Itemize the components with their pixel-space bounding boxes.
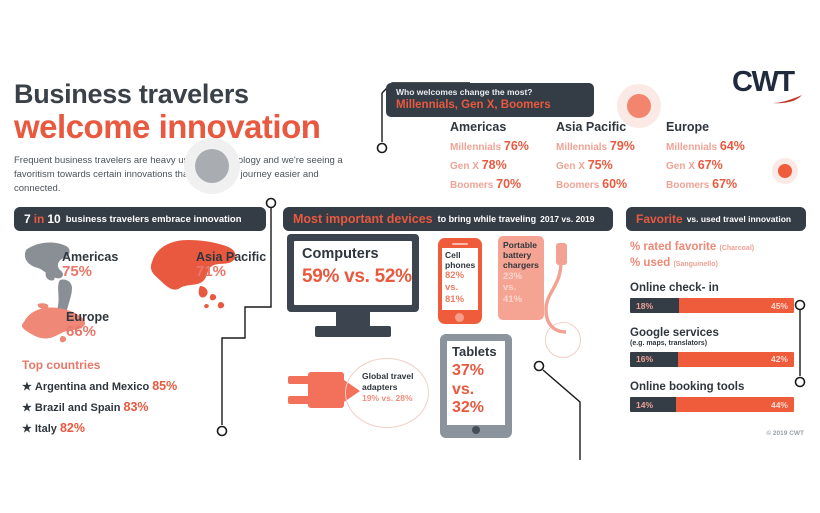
region-stat-value: 78%	[482, 158, 507, 172]
legend-label: % rated favorite	[630, 241, 716, 253]
bar-group-google-services: Google services (e.g. maps, translators)…	[630, 327, 794, 367]
cellphone-stats: Cell phones 82% vs. 81%	[445, 250, 479, 306]
map-region-value: 66%	[66, 324, 109, 341]
map-label-americas: Americas 75%	[62, 250, 118, 281]
bar-title: Google services	[630, 327, 794, 340]
top-country-item: ★Italy 82%	[22, 421, 85, 435]
region-stat-row: Millennials 64%	[666, 137, 745, 156]
map-region-name: Europe	[66, 310, 109, 324]
bar-value-favorite: 18%	[630, 301, 653, 311]
legend-item-favorite: % rated favorite (Charcoal)	[630, 240, 754, 256]
bar-chart-legend: % rated favorite (Charcoal) % used (Sang…	[630, 240, 754, 271]
bar-track: 14% 44%	[630, 397, 794, 412]
adapter-value: 19% vs. 28%	[362, 393, 424, 405]
mid-header-rest: to bring while traveling	[433, 214, 537, 224]
left-section-header: 7in10business travelers embrace innovati…	[14, 207, 266, 231]
bar-track: 18% 45%	[630, 298, 794, 313]
bar-group-online-check-in: Online check- in 18% 45%	[630, 282, 794, 313]
callout-question: Who welcomes change the most?	[396, 87, 533, 98]
star-icon: ★	[22, 381, 35, 393]
decorative-red-dot-small	[778, 164, 792, 178]
bar-track: 16% 42%	[630, 352, 794, 367]
region-stat-row: Boomers 67%	[666, 175, 745, 194]
region-stat-label: Boomers	[450, 180, 493, 191]
region-stat-label: Boomers	[556, 180, 599, 191]
top-country-value: 82%	[60, 421, 85, 435]
travel-adapter-stats: Global travel adapters 19% vs. 28%	[362, 371, 424, 405]
bar-value-used: 44%	[771, 400, 794, 410]
region-stat-label: Millennials	[556, 142, 607, 153]
tablets-value-2019: 32%	[452, 399, 484, 418]
region-name: Europe	[666, 120, 745, 134]
region-stat-row: Boomers 60%	[556, 175, 635, 194]
map-label-asia-pacific: Asia Pacific 71%	[196, 250, 266, 281]
top-country-value: 85%	[152, 379, 177, 393]
top-country-value: 83%	[124, 400, 149, 414]
region-stat-row: Boomers 70%	[450, 175, 529, 194]
cwt-swoosh-icon	[772, 95, 802, 104]
computers-label: Computers	[302, 246, 379, 262]
region-stat-value: 67%	[712, 177, 737, 191]
page-title-line2: welcome innovation	[14, 109, 374, 145]
cellphone-home-button	[455, 313, 464, 322]
tablets-value-2017: 37%	[452, 362, 484, 381]
callout-banner: Who welcomes change the most? Millennial…	[386, 83, 594, 117]
region-stat-value: 64%	[720, 139, 745, 153]
region-stat-row: Millennials 76%	[450, 137, 529, 156]
decorative-gray-dot	[195, 149, 229, 183]
bar-value-favorite: 16%	[630, 354, 653, 364]
copyright-text: © 2019 CWT	[766, 430, 804, 437]
battery-value-2019: 41%	[503, 294, 543, 306]
mid-header-strong: Most important devices	[293, 212, 433, 226]
battery-charger-cable	[544, 262, 574, 334]
adapter-label-line1: Global travel	[362, 371, 424, 382]
top-country-item: ★Brazil and Spain 83%	[22, 400, 149, 414]
map-region-name: Asia Pacific	[196, 250, 266, 264]
battery-value-2017: 23%	[503, 271, 543, 283]
map-region-value: 75%	[62, 264, 118, 281]
battery-charger-stats: Portable battery chargers 23% vs. 41%	[503, 240, 543, 306]
travel-adapter-prong-top	[288, 376, 310, 384]
infographic-canvas: Business travelers welcome innovation Fr…	[0, 0, 820, 513]
top-country-name: Italy	[35, 423, 57, 435]
computers-value: 59% vs. 52%	[302, 266, 412, 288]
region-name: Asia Pacific	[556, 120, 635, 134]
region-stat-row: Gen X 67%	[666, 156, 745, 175]
region-stat-row: Gen X 78%	[450, 156, 529, 175]
page-subtitle: Frequent business travelers are heavy us…	[14, 154, 344, 197]
region-name: Americas	[450, 120, 529, 134]
monitor-base	[315, 326, 391, 337]
travel-adapter-prong-bottom	[288, 396, 310, 404]
region-block-americas: Americas Millennials 76% Gen X 78% Boome…	[450, 120, 529, 193]
bar-segment-used: 45%	[679, 298, 794, 313]
battery-label-line3: chargers	[503, 260, 543, 270]
legend-label: % used	[630, 257, 670, 269]
map-region-value: 71%	[196, 264, 266, 281]
region-stat-value: 60%	[602, 177, 627, 191]
star-icon: ★	[22, 423, 35, 435]
region-stat-value: 79%	[610, 139, 635, 153]
bar-segment-favorite: 14%	[630, 397, 676, 412]
map-region-name: Americas	[62, 250, 118, 264]
bar-title: Online booking tools	[630, 381, 794, 394]
bar-value-used: 45%	[771, 301, 794, 311]
page-title-line1: Business travelers	[14, 80, 374, 108]
right-section-header: Favoritevs. used travel innovation	[626, 207, 806, 231]
bar-subtitle: (e.g. maps, translators)	[630, 340, 794, 348]
left-header-rest: business travelers embrace innovation	[61, 214, 242, 225]
region-block-europe: Europe Millennials 64% Gen X 67% Boomers…	[666, 120, 745, 193]
region-stat-value: 67%	[698, 158, 723, 172]
mid-section-header: Most important devicesto bring while tra…	[283, 207, 613, 231]
left-header-in: in	[31, 212, 48, 226]
left-header-num2: 10	[47, 212, 60, 226]
right-header-strong: Favorite	[636, 212, 683, 226]
right-header-rest: vs. used travel innovation	[683, 214, 791, 224]
tablets-label: Tablets	[452, 344, 497, 359]
region-stat-value: 70%	[496, 177, 521, 191]
bar-title: Online check- in	[630, 282, 794, 295]
region-stat-label: Boomers	[666, 180, 709, 191]
map-label-europe: Europe 66%	[66, 310, 109, 341]
top-country-name: Brazil and Spain	[35, 402, 121, 414]
battery-vs: vs.	[503, 282, 543, 294]
mid-header-years: 2017 vs. 2019	[536, 214, 594, 224]
tablet-home-button	[472, 426, 480, 434]
left-header-num1: 7	[24, 212, 31, 226]
cellphone-vs: vs.	[445, 282, 479, 294]
bar-segment-used: 42%	[678, 352, 794, 367]
region-stat-row: Millennials 79%	[556, 137, 635, 156]
bar-segment-favorite: 16%	[630, 352, 678, 367]
top-countries-title: Top countries	[22, 358, 100, 372]
region-stat-label: Millennials	[666, 142, 717, 153]
region-stat-label: Gen X	[666, 161, 695, 172]
region-stat-label: Gen X	[556, 161, 585, 172]
callout-answer: Millennials, Gen X, Boomers	[396, 98, 551, 114]
region-block-asia-pacific: Asia Pacific Millennials 79% Gen X 75% B…	[556, 120, 635, 193]
tablets-stats: 37% vs. 32%	[452, 362, 484, 418]
cellphone-label-line1: Cell	[445, 250, 479, 260]
adapter-label-line2: adapters	[362, 382, 424, 393]
bar-segment-used: 44%	[676, 397, 794, 412]
region-stat-value: 75%	[588, 158, 613, 172]
top-country-name: Argentina and Mexico	[35, 381, 149, 393]
region-stat-label: Gen X	[450, 161, 479, 172]
decorative-red-dot-large	[627, 94, 651, 118]
cellphone-value-2017: 82%	[445, 270, 479, 282]
legend-color-name: (Charcoal)	[719, 245, 754, 252]
region-stat-value: 76%	[504, 139, 529, 153]
top-country-item: ★Argentina and Mexico 85%	[22, 379, 177, 393]
cellphone-label-line2: phones	[445, 260, 479, 270]
star-icon: ★	[22, 402, 35, 414]
cellphone-value-2019: 81%	[445, 294, 479, 306]
bar-segment-favorite: 18%	[630, 298, 679, 313]
battery-label-line2: battery	[503, 250, 543, 260]
cwt-logo: CWT	[732, 68, 804, 106]
battery-label-line1: Portable	[503, 240, 543, 250]
legend-item-used: % used (Sanguinello)	[630, 256, 754, 272]
tablets-vs: vs.	[452, 381, 484, 400]
cellphone-speaker	[452, 243, 468, 245]
region-stat-label: Millennials	[450, 142, 501, 153]
bar-group-online-booking-tools: Online booking tools 14% 44%	[630, 381, 794, 412]
legend-color-name: (Sanguinello)	[673, 261, 717, 268]
monitor-neck	[336, 312, 370, 326]
region-stat-row: Gen X 75%	[556, 156, 635, 175]
cwt-logo-text: CWT	[732, 68, 804, 97]
travel-adapter-icon	[308, 372, 344, 408]
bar-value-favorite: 14%	[630, 400, 653, 410]
bar-value-used: 42%	[771, 354, 794, 364]
